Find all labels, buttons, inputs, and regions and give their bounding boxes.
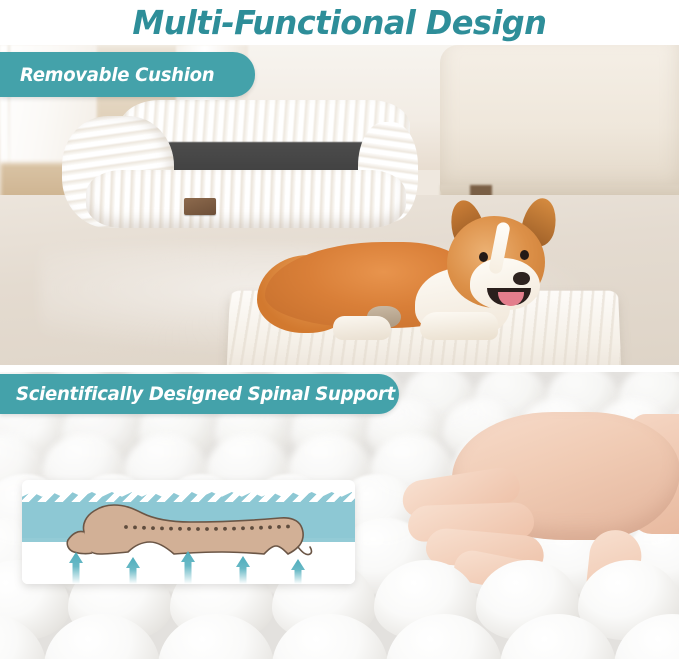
infographic-page: Multi-Functional Design: [0, 0, 679, 659]
brand-leather-tag: [184, 198, 216, 215]
badge-spinal-support-label: Scientifically Designed Spinal Support: [16, 383, 395, 405]
badge-removable-cushion: Removable Cushion: [0, 52, 255, 97]
page-title-bar: Multi-Functional Design: [0, 0, 679, 45]
panel-divider: [0, 365, 679, 372]
dog-right-eye: [520, 250, 529, 260]
hand-pressing-foam: [392, 412, 679, 617]
corgi-dog: [265, 200, 565, 345]
diagram-vector-layer: [22, 480, 355, 584]
dog-front-leg: [420, 312, 498, 340]
dog-nose: [513, 272, 530, 285]
dog-left-eye: [479, 252, 488, 262]
sofa: [440, 45, 679, 195]
spinal-support-diagram: [22, 480, 355, 584]
badge-removable-cushion-label: Removable Cushion: [20, 64, 214, 86]
badge-spinal-support: Scientifically Designed Spinal Support: [0, 374, 399, 414]
dog-paw: [333, 316, 391, 340]
page-title: Multi-Functional Design: [133, 3, 547, 42]
